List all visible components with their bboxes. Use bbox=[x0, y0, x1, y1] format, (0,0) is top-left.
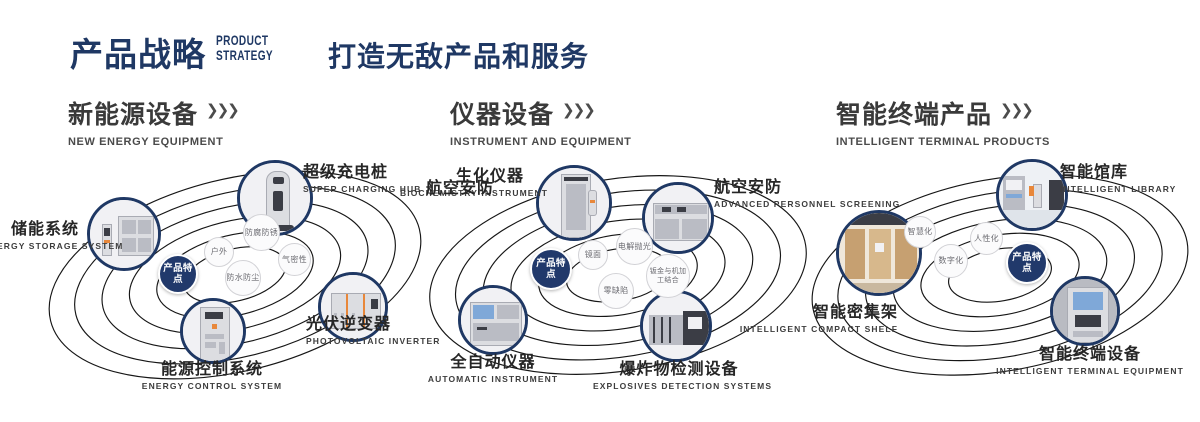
feature-bubble-label: 数字化 bbox=[939, 256, 964, 266]
caption-aviation-security-left: 航空安防 bbox=[388, 174, 494, 198]
caption-cn: 航空安防 bbox=[388, 174, 494, 198]
page-title-english-line2: STRATEGY bbox=[216, 48, 273, 63]
chevron-right-icon: ❯❯❯ bbox=[562, 101, 594, 119]
core-bubble-product-features: 产品特点 bbox=[1006, 242, 1048, 284]
explosives-detector-icon bbox=[643, 293, 709, 359]
caption-en: ENERGY STORAGE SYSTEM bbox=[0, 241, 79, 251]
caption-cn: 能源控制系统 bbox=[92, 355, 332, 379]
caption-intelligent-compact-shelf: 智能密集架 INTELLIGENT COMPACT SHELF bbox=[738, 298, 898, 334]
feature-bubble-intelligent: 智慧化 bbox=[904, 216, 936, 248]
screening-machine-icon bbox=[645, 185, 711, 251]
section-heading-cn: 仪器设备 bbox=[450, 95, 554, 131]
feature-bubble-label: 镜面 bbox=[585, 250, 602, 260]
caption-energy-control-system: 能源控制系统 ENERGY CONTROL SYSTEM bbox=[92, 355, 332, 391]
section-heading-intelligent-terminal: 智能终端产品❯❯❯ INTELLIGENT TERMINAL PRODUCTS bbox=[836, 95, 1050, 148]
section-heading-en: INSTRUMENT AND EQUIPMENT bbox=[450, 136, 631, 148]
section-heading-new-energy: 新能源设备❯❯❯ NEW ENERGY EQUIPMENT bbox=[68, 95, 238, 148]
caption-automatic-instrument: 全自动仪器 AUTOMATIC INSTRUMENT bbox=[413, 348, 573, 384]
core-bubble-label: 产品特点 bbox=[1008, 252, 1046, 274]
caption-intelligent-library: 智能馆库 INTELLIGENT LIBRARY bbox=[1060, 158, 1200, 194]
page-title-english: PRODUCT STRATEGY bbox=[216, 33, 273, 63]
orbit-group-instrument: 生化仪器 BIOCHEMISTRY INSTRUMENT 航空安防 航空安防 A… bbox=[418, 150, 818, 400]
caption-cn: 智能馆库 bbox=[1060, 158, 1200, 182]
node-explosives-detector[interactable] bbox=[640, 290, 712, 362]
caption-intelligent-terminal-equipment: 智能终端设备 INTELLIGENT TERMINAL EQUIPMENT bbox=[990, 340, 1190, 376]
caption-en: INTELLIGENT COMPACT SHELF bbox=[738, 324, 898, 334]
page-title: 产品战略 bbox=[70, 28, 206, 76]
feature-bubble-sheet-metal-machining: 钣金与机加工结合 bbox=[646, 254, 690, 298]
node-energy-storage-cabinet[interactable] bbox=[87, 197, 161, 271]
caption-cn: 爆炸物检测设备 bbox=[593, 355, 765, 379]
section-heading-en: INTELLIGENT TERMINAL PRODUCTS bbox=[836, 136, 1050, 148]
smart-library-icon bbox=[999, 162, 1065, 228]
feature-bubble-digital: 数字化 bbox=[934, 244, 968, 278]
caption-en: EXPLOSIVES DETECTION SYSTEMS bbox=[593, 381, 765, 391]
feature-bubble-electrolytic-polishing: 电解抛光 bbox=[616, 228, 653, 265]
node-smart-library[interactable] bbox=[996, 159, 1068, 231]
feature-bubble-label: 电解抛光 bbox=[618, 242, 651, 252]
feature-bubble-outdoor: 户外 bbox=[204, 237, 234, 267]
core-bubble-label: 产品特点 bbox=[532, 258, 570, 280]
security-gate-icon bbox=[539, 168, 609, 238]
feature-bubble-airtightness: 气密性 bbox=[278, 243, 311, 276]
self-service-kiosk-icon bbox=[1053, 279, 1117, 343]
feature-bubble-zero-defect: 零缺陷 bbox=[598, 273, 634, 309]
section-heading-cn: 智能终端产品 bbox=[836, 95, 992, 131]
caption-cn: 智能终端设备 bbox=[990, 340, 1190, 364]
caption-en: AUTOMATIC INSTRUMENT bbox=[413, 374, 573, 384]
core-bubble-product-features: 产品特点 bbox=[530, 248, 572, 290]
feature-bubble-label: 防水防尘 bbox=[226, 273, 259, 283]
caption-explosives-detection: 爆炸物检测设备 EXPLOSIVES DETECTION SYSTEMS bbox=[593, 355, 765, 391]
caption-cn: 全自动仪器 bbox=[413, 348, 573, 372]
node-automatic-instrument[interactable] bbox=[458, 285, 528, 355]
feature-bubble-label: 智慧化 bbox=[908, 227, 933, 237]
feature-bubble-label: 钣金与机加工结合 bbox=[647, 267, 689, 285]
feature-bubble-label: 气密性 bbox=[282, 255, 307, 265]
chevron-right-icon: ❯❯❯ bbox=[1000, 101, 1032, 119]
page-header: 产品战略 PRODUCT STRATEGY 打造无敌产品和服务 bbox=[0, 0, 1200, 88]
feature-bubble-waterproof-dustproof: 防水防尘 bbox=[225, 260, 261, 296]
feature-bubble-mirror-finish: 镜面 bbox=[578, 240, 608, 270]
feature-bubble-anti-corrosion: 防腐防锈 bbox=[243, 214, 280, 251]
orbit-group-intelligent-terminal: 智能馆库 INTELLIGENT LIBRARY 智能密集架 INTELLIGE… bbox=[800, 150, 1200, 400]
feature-bubble-label: 防腐防锈 bbox=[245, 228, 278, 238]
caption-energy-storage: 储能系统 ENERGY STORAGE SYSTEM bbox=[0, 215, 79, 251]
chevron-right-icon: ❯❯❯ bbox=[206, 101, 238, 119]
page-slogan: 打造无敌产品和服务 bbox=[328, 35, 589, 75]
feature-bubble-label: 零缺陷 bbox=[604, 286, 629, 296]
feature-bubble-label: 户外 bbox=[211, 247, 228, 257]
section-heading-en: NEW ENERGY EQUIPMENT bbox=[68, 136, 238, 148]
feature-bubble-label: 人性化 bbox=[974, 234, 999, 244]
control-cabinet-icon bbox=[183, 301, 243, 361]
caption-en: INTELLIGENT LIBRARY bbox=[1060, 184, 1200, 194]
node-security-gate[interactable] bbox=[536, 165, 612, 241]
node-self-service-kiosk[interactable] bbox=[1050, 276, 1120, 346]
core-bubble-label: 产品特点 bbox=[160, 263, 196, 285]
section-heading-cn: 新能源设备 bbox=[68, 95, 198, 131]
feature-bubble-humanized: 人性化 bbox=[970, 222, 1003, 255]
core-bubble-product-features: 产品特点 bbox=[158, 254, 198, 294]
caption-en: ENERGY CONTROL SYSTEM bbox=[92, 381, 332, 391]
page-title-english-line1: PRODUCT bbox=[216, 33, 273, 48]
automatic-instrument-icon bbox=[461, 288, 525, 352]
section-heading-instrument: 仪器设备❯❯❯ INSTRUMENT AND EQUIPMENT bbox=[450, 95, 631, 148]
energy-storage-cabinet-icon bbox=[90, 200, 158, 268]
caption-cn: 智能密集架 bbox=[738, 298, 898, 322]
caption-en: INTELLIGENT TERMINAL EQUIPMENT bbox=[990, 366, 1190, 376]
orbit-group-new-energy: 储能系统 ENERGY STORAGE SYSTEM 超级充电桩 SUPER C… bbox=[35, 150, 435, 400]
caption-cn: 储能系统 bbox=[0, 215, 79, 239]
